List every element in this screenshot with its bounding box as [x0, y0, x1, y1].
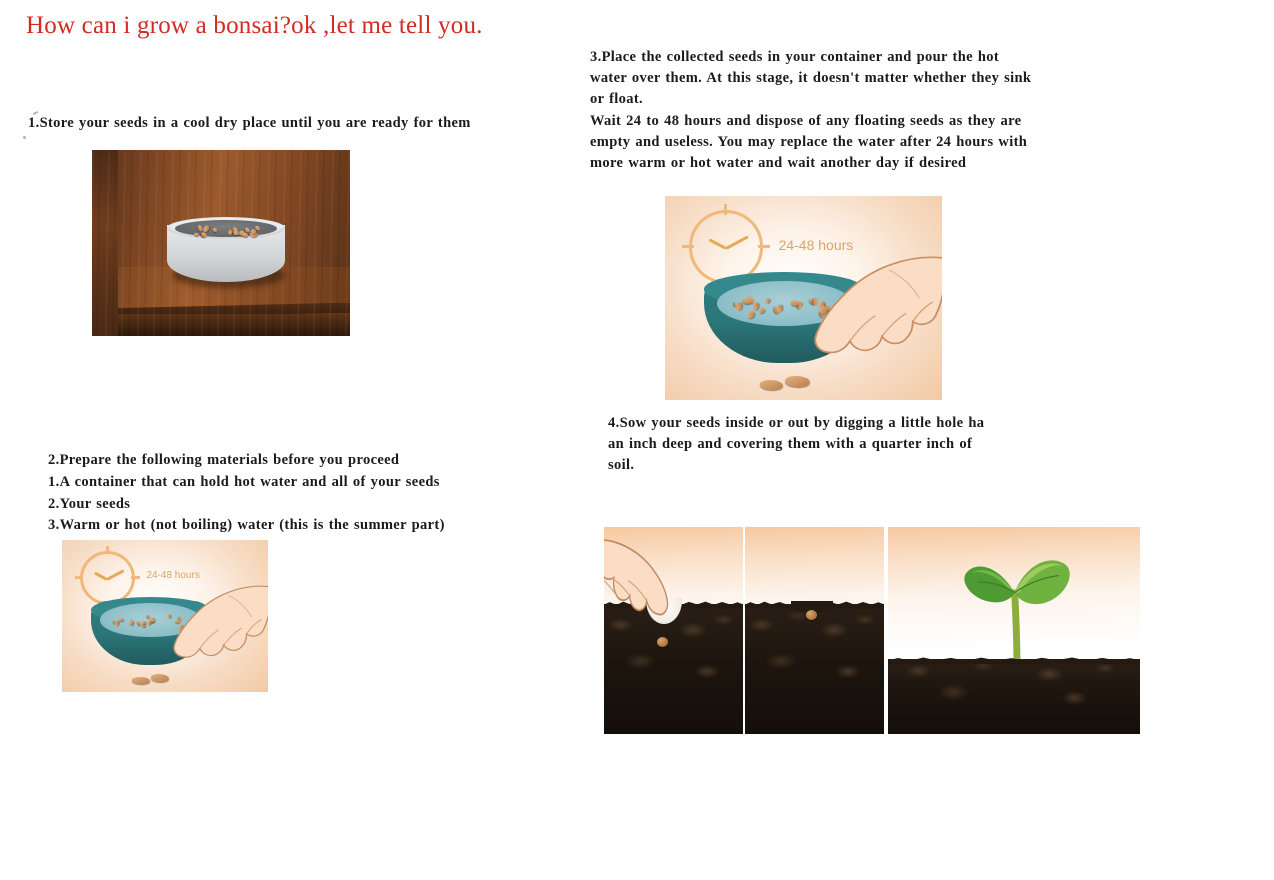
step-2-line-1: 2.Prepare the following materials before…: [48, 450, 518, 472]
step-4-line-1: 4.Sow your seeds inside or out by diggin…: [608, 413, 1032, 434]
seed-pile: [191, 226, 265, 236]
step-2-line-2: 1.A container that can hold hot water an…: [48, 472, 518, 494]
clock-tick-9: [682, 245, 694, 248]
clock-tick-3: [758, 245, 770, 248]
page-title: How can i grow a bonsai?ok ,let me tell …: [26, 12, 483, 40]
dropped-seeds: [756, 373, 811, 391]
step-3-paragraph-2: Wait 24 to 48 hours and dispose of any f…: [590, 111, 1032, 174]
figure-soaking-seeds-small: 24-48 hours: [62, 540, 268, 692]
figure-seed-resting-in-soil: [745, 527, 884, 734]
seed: [243, 233, 248, 237]
soil-bed: [888, 659, 1140, 734]
seed: [119, 617, 124, 621]
soil-scene: [888, 527, 1140, 734]
seed: [657, 637, 668, 647]
document-page: How can i grow a bonsai?ok ,let me tell …: [0, 0, 1274, 880]
figure-soaking-seeds-large: 24-48 hours: [665, 196, 942, 400]
step-2-line-4: 3.Warm or hot (not boiling) water (this …: [48, 515, 518, 537]
step-3-paragraph-1: 3.Place the collected seeds in your cont…: [590, 47, 1032, 110]
step-2-text: 2.Prepare the following materials before…: [48, 450, 518, 537]
step-4-line-3: soil.: [608, 455, 1032, 476]
seed: [736, 303, 743, 311]
step-4-line-2: an inch deep and covering them with a qu…: [608, 434, 1032, 455]
clock-tick-12: [724, 204, 727, 216]
white-bowl: [167, 217, 286, 282]
soil-scene: [604, 527, 743, 734]
seed: [114, 622, 118, 627]
step-4-text: 4.Sow your seeds inside or out by diggin…: [608, 413, 1032, 476]
clock-tick-3: [131, 576, 140, 579]
step-1-text: 1.Store your seeds in a cool dry place u…: [28, 113, 478, 134]
soak-scene: 24-48 hours: [665, 196, 942, 400]
seed: [213, 227, 218, 232]
step-3-text: 3.Place the collected seeds in your cont…: [590, 47, 1032, 174]
hand-illustration: [604, 535, 701, 639]
seed: [228, 230, 232, 235]
seed: [806, 610, 817, 620]
step-2-line-3: 2.Your seeds: [48, 494, 518, 516]
clock-tick-9: [75, 576, 84, 579]
soil-scene: [745, 527, 884, 734]
soil-bed: [745, 604, 884, 734]
scan-artifact-dot: [23, 136, 26, 139]
clock-tick-12: [106, 546, 109, 555]
hand-illustration: [153, 580, 268, 674]
figure-seeds-in-bowl-on-shelf: [92, 150, 350, 336]
figure-green-seedling-in-soil: [888, 527, 1140, 734]
hand-illustration: [787, 249, 942, 375]
seed: [742, 297, 751, 304]
seed: [746, 310, 756, 320]
seed: [758, 306, 766, 313]
dropped-seeds: [130, 672, 171, 686]
seed: [778, 304, 783, 311]
seed: [765, 298, 770, 304]
figure-hand-dropping-seed-into-hole: [604, 527, 743, 734]
soak-scene: 24-48 hours: [62, 540, 268, 692]
seedling: [959, 537, 1075, 665]
seed: [194, 233, 199, 237]
